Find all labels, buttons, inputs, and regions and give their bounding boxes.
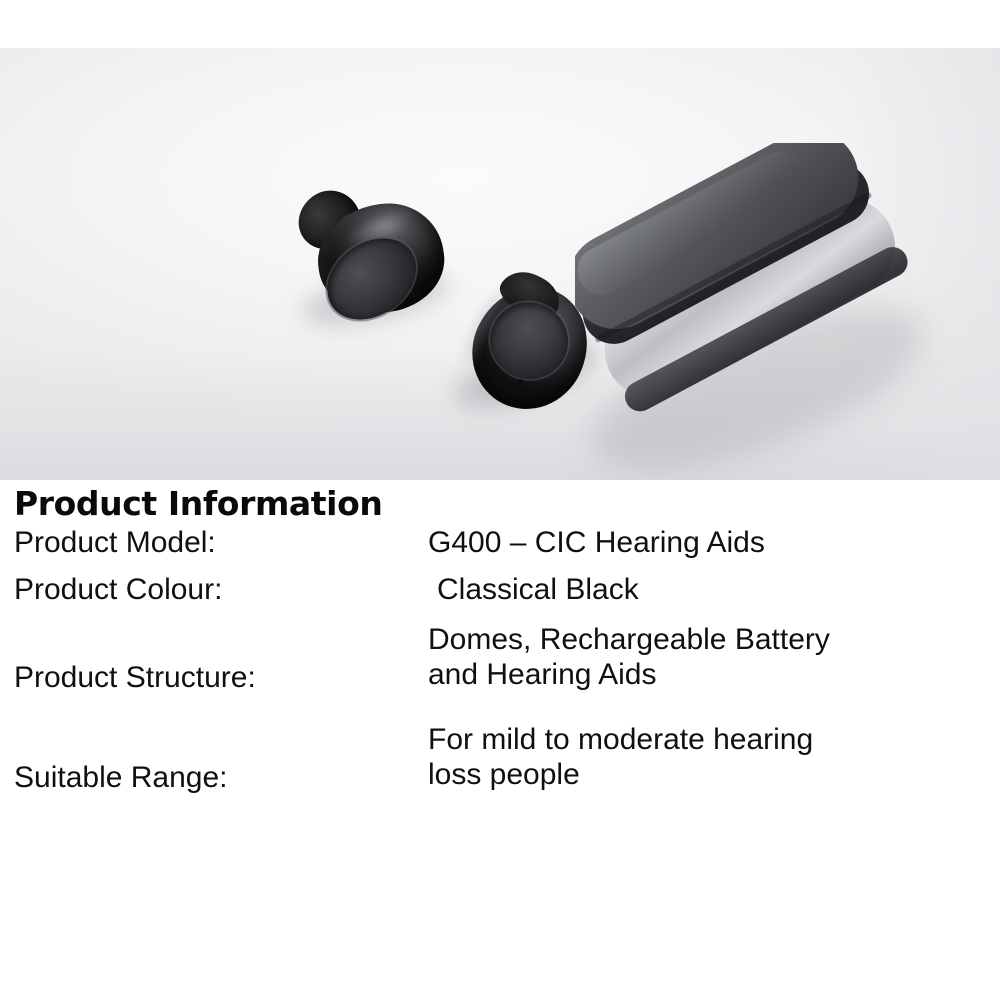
spec-value-line: G400 – CIC Hearing Aids — [428, 526, 1000, 561]
section-title: Product Information — [14, 484, 382, 523]
spec-value-suitable-range: For mild to moderate hearing loss people — [428, 723, 1000, 793]
spec-value-line: and Hearing Aids — [428, 658, 1000, 693]
spec-value-line: Classical Black — [437, 573, 1000, 608]
charging-case-illustration — [575, 143, 920, 443]
spec-row-product-structure: Product Structure: Domes, Rechargeable B… — [0, 623, 1000, 695]
left-earbud — [294, 175, 459, 329]
spec-row-product-model: Product Model: G400 – CIC Hearing Aids — [0, 526, 1000, 561]
product-information-section: Product Information Product Model: G400 … — [0, 480, 1000, 1000]
charging-case — [575, 143, 920, 443]
spec-value-line: Domes, Rechargeable Battery — [428, 623, 1000, 658]
spec-value-product-structure: Domes, Rechargeable Battery and Hearing … — [428, 623, 1000, 693]
product-info-page: Product Information Product Model: G400 … — [0, 0, 1000, 1000]
spec-label-product-model: Product Model: — [0, 526, 428, 560]
spec-row-suitable-range: Suitable Range: For mild to moderate hea… — [0, 723, 1000, 795]
product-photo — [0, 48, 1000, 480]
spec-value-line: For mild to moderate hearing — [428, 723, 1000, 758]
spec-label-suitable-range: Suitable Range: — [0, 723, 428, 795]
spec-label-product-colour: Product Colour: — [0, 573, 428, 607]
spec-row-product-colour: Product Colour: Classical Black — [0, 573, 1000, 608]
spec-value-product-colour: Classical Black — [428, 573, 1000, 608]
spec-label-product-structure: Product Structure: — [0, 623, 428, 695]
spec-value-product-model: G400 – CIC Hearing Aids — [428, 526, 1000, 561]
spec-value-line: loss people — [428, 758, 1000, 793]
